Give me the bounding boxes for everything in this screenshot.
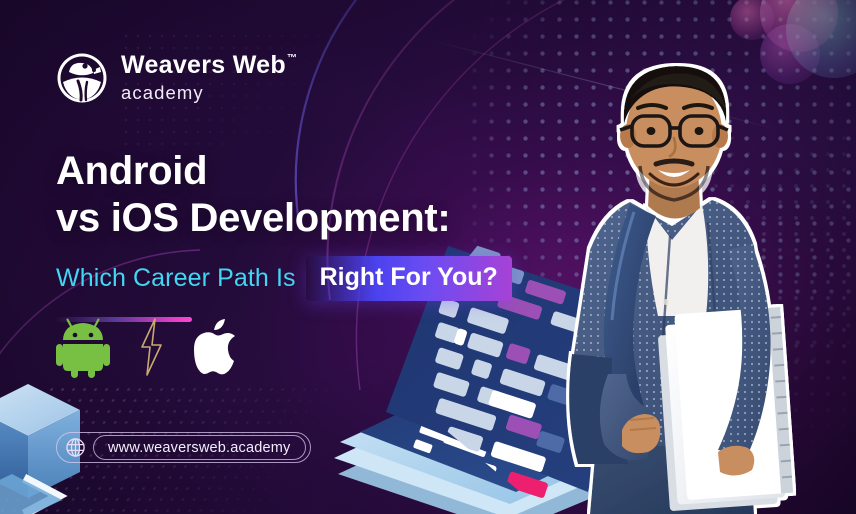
trademark-symbol: ™ [287, 54, 297, 64]
page-title: Android vs iOS Development: [56, 148, 512, 242]
promo-banner: Weavers Web ™ academy Android vs iOS Dev… [0, 0, 856, 514]
weaversweb-bird-circle-logo-icon [56, 52, 108, 104]
subheadline-plain: Which Career Path Is [56, 264, 296, 293]
website-url-badge[interactable]: www.weaversweb.academy [56, 432, 311, 463]
subheadline-highlight: Right For You? [306, 256, 512, 301]
android-icon [56, 316, 110, 378]
headline-line-2: vs iOS Development: [56, 195, 512, 242]
student-photo [512, 54, 832, 514]
headline-block: Android vs iOS Development: Which Career… [56, 148, 512, 322]
url-inner-pill: www.weaversweb.academy [93, 435, 306, 460]
apple-icon [192, 317, 242, 377]
brand-tagline: academy [121, 84, 297, 103]
lightning-bolt-icon [136, 317, 166, 377]
subheadline: Which Career Path Is Right For You? [56, 256, 512, 301]
globe-icon [65, 437, 86, 458]
website-url: www.weaversweb.academy [108, 440, 291, 456]
headline-line-1: Android [56, 149, 207, 193]
platform-icon-row [56, 316, 242, 378]
brand-name: Weavers Web [121, 53, 286, 78]
brand-logo-text: Weavers Web ™ academy [121, 53, 297, 103]
brand-logo[interactable]: Weavers Web ™ academy [56, 52, 297, 104]
